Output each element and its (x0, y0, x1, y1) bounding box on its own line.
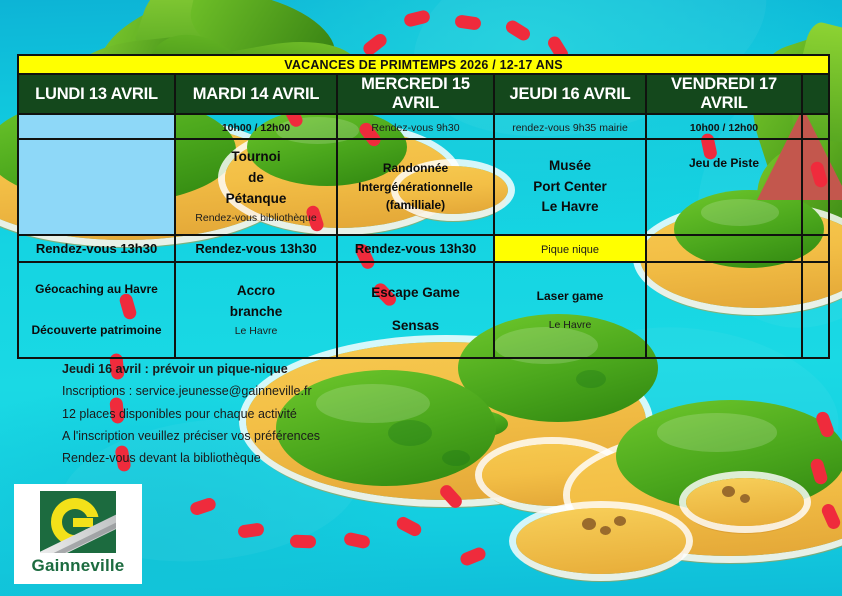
activity-line: Sensas (338, 316, 493, 337)
activity-line: Laser game (495, 287, 645, 306)
info-line: Rendez-vous devant la bibliothèque (62, 447, 392, 469)
midday-label: Rendez-vous 13h30 (36, 241, 157, 256)
day-header-label: LUNDI 13 AVRIL (35, 85, 158, 103)
activity-cell-jeudi-morning: Musée Port Center Le Havre (494, 139, 646, 235)
day-header-row: LUNDI 13 AVRIL MARDI 14 AVRIL MERCREDI 1… (18, 74, 829, 114)
activity-cell-vendredi-morning: Jeu de Piste (646, 139, 802, 235)
activity-line: Intergénérationnelle (338, 178, 493, 197)
logo-emblem-icon (40, 491, 116, 553)
midday-row: Rendez-vous 13h30 Rendez-vous 13h30 Rend… (18, 235, 829, 262)
midday-cell-lundi: Rendez-vous 13h30 (18, 235, 175, 262)
day-header-label: VENDREDI 17 AVRIL (671, 75, 777, 112)
trail-dash-icon (290, 535, 316, 549)
gainneville-logo: Gainneville (14, 484, 142, 584)
activity-cell-lundi-morning (18, 139, 175, 235)
time-cell-spacer (802, 114, 829, 139)
midday-label: Pique nique (541, 244, 599, 256)
info-block: Jeudi 16 avril : prévoir un pique-nique … (62, 358, 392, 469)
activity-cell-spacer-afternoon (802, 262, 829, 358)
activity-cell-mardi-morning: Tournoi de Pétanque Rendez-vous biblioth… (175, 139, 337, 235)
midday-label: Rendez-vous 13h30 (195, 241, 316, 256)
activity-cell-vendredi-afternoon (646, 262, 802, 358)
activity-line: (familliale) (338, 196, 493, 215)
island-decoration (686, 472, 804, 530)
activity-note: Le Havre (176, 323, 336, 339)
activity-line: Tournoi (176, 147, 336, 168)
midday-label: Rendez-vous 13h30 (355, 241, 476, 256)
activity-line: Accro (176, 281, 336, 302)
activity-line: Musée (495, 156, 645, 177)
time-label: 10h00 / 12h00 (222, 122, 290, 134)
activity-line: Géocaching au Havre (19, 280, 174, 299)
activity-line: Pétanque (176, 189, 336, 210)
time-cell-mardi: 10h00 / 12h00 (175, 114, 337, 139)
activity-line: de (176, 168, 336, 189)
activity-note: Rendez-vous bibliothèque (176, 210, 336, 226)
activity-cell-mardi-afternoon: Accro branche Le Havre (175, 262, 337, 358)
day-header-mercredi: MERCREDI 15 AVRIL (337, 74, 494, 114)
day-header-mardi: MARDI 14 AVRIL (175, 74, 337, 114)
midday-cell-spacer (802, 235, 829, 262)
time-label: 10h00 / 12h00 (690, 122, 758, 134)
time-row: 10h00 / 12h00 Rendez-vous 9h30 rendez-vo… (18, 114, 829, 139)
title-row: VACANCES DE PRIMTEMPS 2026 / 12-17 ANS (18, 55, 829, 74)
day-header-lundi: LUNDI 13 AVRIL (18, 74, 175, 114)
poster-canvas: VACANCES DE PRIMTEMPS 2026 / 12-17 ANS L… (0, 0, 842, 596)
activity-line: Randonnée (338, 159, 493, 178)
time-cell-mercredi: Rendez-vous 9h30 (337, 114, 494, 139)
activity-line: Port Center (495, 177, 645, 198)
afternoon-activity-row: Géocaching au Havre Découverte patrimoin… (18, 262, 829, 358)
info-line: Inscriptions : service.jeunesse@gainnevi… (62, 380, 392, 402)
activity-cell-lundi-afternoon: Géocaching au Havre Découverte patrimoin… (18, 262, 175, 358)
activity-cell-mercredi-morning: Randonnée Intergénérationnelle (famillia… (337, 139, 494, 235)
day-header-label: JEUDI 16 AVRIL (510, 85, 631, 103)
poster-title: VACANCES DE PRIMTEMPS 2026 / 12-17 ANS (18, 55, 829, 74)
midday-cell-mardi: Rendez-vous 13h30 (175, 235, 337, 262)
time-label: Rendez-vous 9h30 (371, 122, 459, 134)
day-header-label: MERCREDI 15 AVRIL (361, 75, 470, 112)
morning-activity-row: Tournoi de Pétanque Rendez-vous biblioth… (18, 139, 829, 235)
activity-cell-spacer-morning (802, 139, 829, 235)
info-line: Jeudi 16 avril : prévoir un pique-nique (62, 358, 392, 380)
midday-cell-mercredi: Rendez-vous 13h30 (337, 235, 494, 262)
midday-cell-jeudi: Pique nique (494, 235, 646, 262)
info-line: A l'inscription veuillez préciser vos pr… (62, 425, 392, 447)
schedule-table: VACANCES DE PRIMTEMPS 2026 / 12-17 ANS L… (17, 54, 830, 359)
day-header-jeudi: JEUDI 16 AVRIL (494, 74, 646, 114)
activity-note: Le Havre (495, 317, 645, 333)
midday-cell-vendredi (646, 235, 802, 262)
activity-cell-mercredi-afternoon: Escape Game Sensas (337, 262, 494, 358)
time-label: rendez-vous 9h35 mairie (512, 122, 628, 134)
activity-line: Escape Game (338, 283, 493, 304)
day-header-vendredi: VENDREDI 17 AVRIL (646, 74, 802, 114)
day-header-label: MARDI 14 AVRIL (193, 85, 319, 103)
island-decoration (516, 500, 686, 578)
info-line: 12 places disponibles pour chaque activi… (62, 403, 392, 425)
activity-line: branche (176, 302, 336, 323)
activity-line: Découverte patrimoine (19, 321, 174, 340)
time-cell-vendredi: 10h00 / 12h00 (646, 114, 802, 139)
activity-line: Jeu de Piste (647, 154, 801, 173)
activity-line: Le Havre (495, 197, 645, 218)
schedule-table-container: VACANCES DE PRIMTEMPS 2026 / 12-17 ANS L… (17, 54, 828, 319)
time-cell-jeudi: rendez-vous 9h35 mairie (494, 114, 646, 139)
day-header-spacer (802, 74, 829, 114)
logo-wordmark: Gainneville (14, 556, 142, 576)
time-cell-lundi (18, 114, 175, 139)
activity-cell-jeudi-afternoon: Laser game Le Havre (494, 262, 646, 358)
